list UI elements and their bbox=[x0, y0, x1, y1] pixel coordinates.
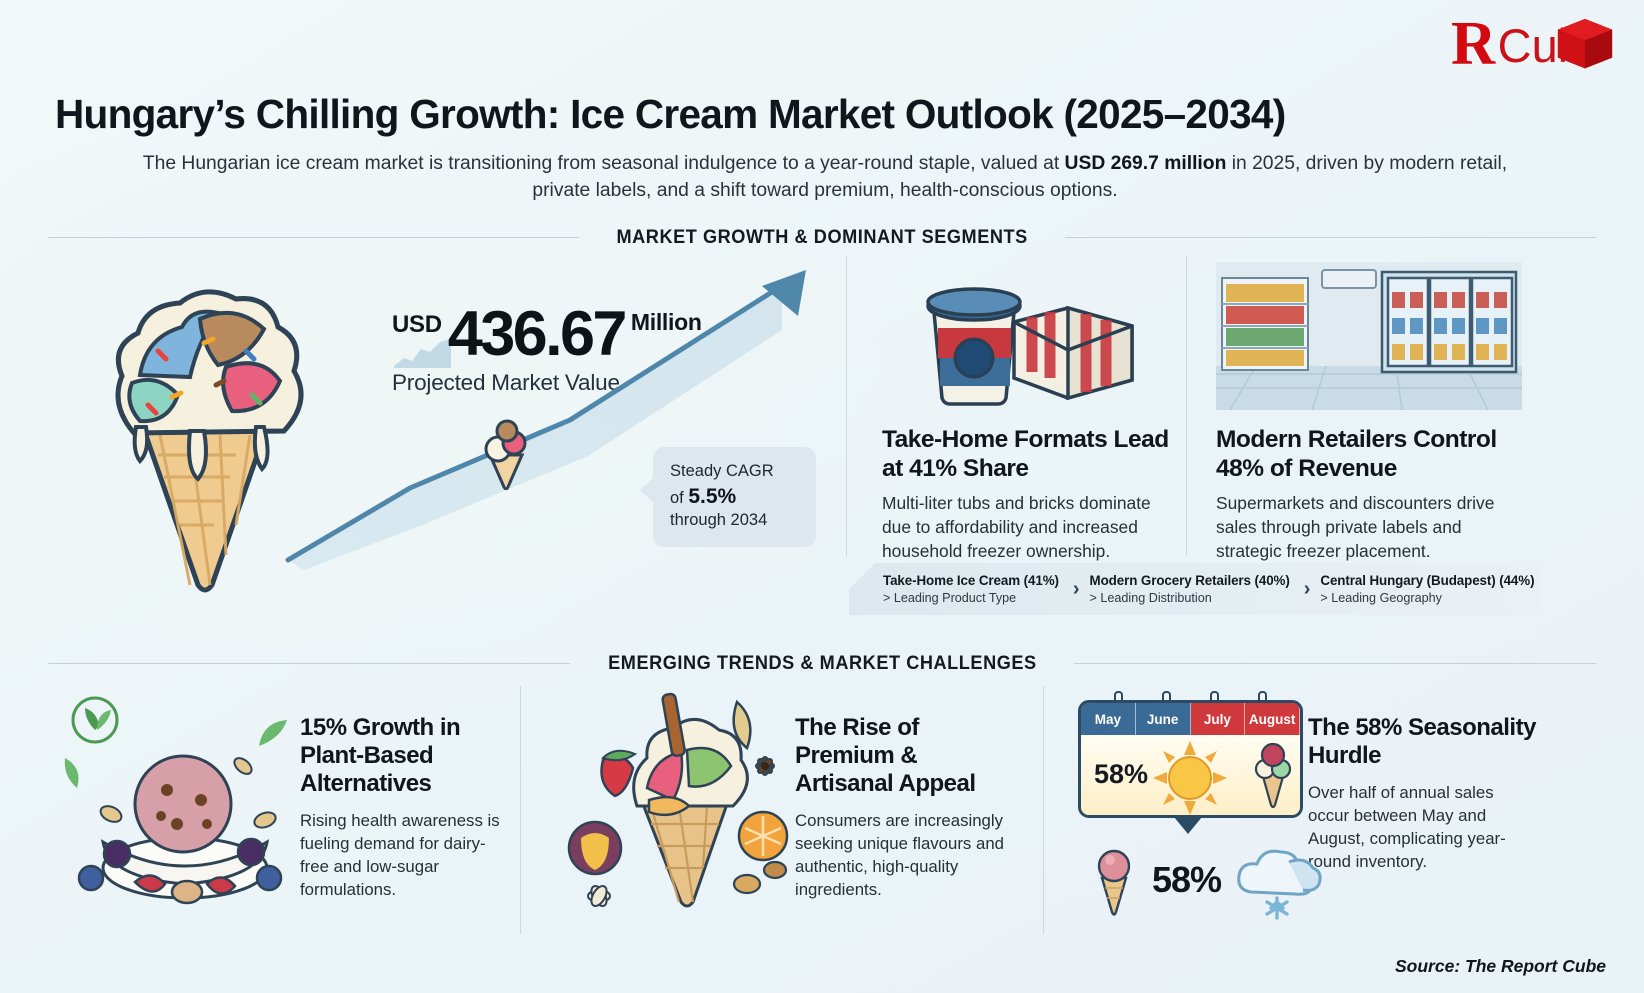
breadcrumb-item-product-type[interactable]: Take-Home Ice Cream (41%) > Leading Prod… bbox=[883, 573, 1071, 605]
divider-rule-left bbox=[48, 663, 570, 664]
brand-logo: Я Cube bbox=[1453, 18, 1610, 71]
cagr-line-2: of 5.5% bbox=[670, 483, 802, 511]
vertical-divider-4 bbox=[1043, 686, 1044, 934]
card-take-home-formats: Take-Home Formats Lead at 41% Share Mult… bbox=[882, 262, 1172, 563]
brand-r-icon: Я bbox=[1453, 18, 1496, 71]
value-line: USD 436.67 Million bbox=[392, 305, 722, 365]
calendar-box: May June July August 58% bbox=[1078, 700, 1303, 818]
arrow-cone-marker-icon bbox=[470, 415, 542, 490]
divider-rule-right bbox=[1074, 663, 1596, 664]
cagr-line-1: Steady CAGR bbox=[670, 461, 802, 483]
leading-segments-breadcrumb: Take-Home Ice Cream (41%) > Leading Prod… bbox=[849, 563, 1539, 615]
breadcrumb-label: Central Hungary (Budapest) (44%) bbox=[1320, 573, 1534, 588]
seasonality-calendar-icon: May June July August 58% bbox=[1078, 700, 1303, 818]
chevron-right-icon: › bbox=[1073, 578, 1080, 601]
calendar-month-august: August bbox=[1245, 703, 1300, 735]
card-body: Supermarkets and discounters drive sales… bbox=[1216, 492, 1522, 563]
seasonality-badge-row: 58% bbox=[1088, 840, 1323, 920]
page-subtitle: The Hungarian ice cream market is transi… bbox=[140, 150, 1510, 205]
ice-cream-cone-illustration bbox=[40, 255, 370, 595]
section-title-top: MARKET GROWTH & DOMINANT SEGMENTS bbox=[616, 226, 1027, 249]
breadcrumb-sublabel: > Leading Geography bbox=[1320, 591, 1534, 605]
value-unit: Million bbox=[631, 309, 702, 336]
snow-cloud-icon bbox=[1233, 840, 1323, 920]
projected-market-value-block: USD 436.67 Million Projected Market Valu… bbox=[392, 305, 722, 396]
plant-based-berry-bowl-icon bbox=[55, 692, 305, 907]
card-body: Rising health awareness is fueling deman… bbox=[300, 809, 505, 901]
breadcrumb-item-distribution[interactable]: Modern Grocery Retailers (40%) > Leading… bbox=[1090, 573, 1302, 605]
calendar-month-june: June bbox=[1136, 703, 1191, 735]
card-plant-based: 15% Growth in Plant-Based Alternatives R… bbox=[45, 688, 515, 918]
supermarket-freezer-aisle-icon bbox=[1216, 262, 1522, 410]
calendar-cone-icon bbox=[1250, 737, 1296, 809]
card-heading: 15% Growth in Plant-Based Alternatives bbox=[300, 714, 505, 798]
sun-icon bbox=[1151, 739, 1229, 817]
divider-rule-left bbox=[48, 237, 579, 238]
subtitle-highlight: USD 269.7 million bbox=[1065, 153, 1227, 174]
value-amount: 436.67 bbox=[448, 305, 625, 365]
cagr-prefix: of bbox=[670, 489, 688, 507]
section-divider-emerging-trends: EMERGING TRENDS & MARKET CHALLENGES bbox=[48, 652, 1596, 675]
calendar-percent-label: 58% bbox=[1094, 759, 1148, 790]
vertical-divider-3 bbox=[520, 686, 521, 934]
breadcrumb-item-geography[interactable]: Central Hungary (Budapest) (44%) > Leadi… bbox=[1320, 573, 1546, 605]
card-body: Over half of annual sales occur between … bbox=[1308, 781, 1538, 873]
calendar-body: 58% bbox=[1081, 735, 1300, 818]
card-premium-artisanal: The Rise of Premium & Artisanal Appeal C… bbox=[545, 688, 1030, 918]
infographic-page: Я Cube Hungary’s Chilling Growth: Ice Cr… bbox=[0, 0, 1644, 993]
vertical-divider-1 bbox=[846, 256, 847, 556]
value-caption: Projected Market Value bbox=[392, 370, 722, 396]
card-body: Multi-liter tubs and bricks dominate due… bbox=[882, 492, 1172, 563]
subtitle-part-1: The Hungarian ice cream market is transi… bbox=[143, 153, 1065, 174]
section-title-bottom: EMERGING TRENDS & MARKET CHALLENGES bbox=[608, 652, 1037, 675]
card-heading: Take-Home Formats Lead at 41% Share bbox=[882, 426, 1172, 483]
source-label: Source: The Report Cube bbox=[1395, 956, 1606, 977]
calendar-month-row: May June July August bbox=[1081, 703, 1300, 735]
breadcrumb-label: Modern Grocery Retailers (40%) bbox=[1090, 573, 1290, 588]
card-body: Consumers are increasingly seeking uniqu… bbox=[795, 809, 1010, 901]
artisanal-gelato-cone-icon bbox=[551, 688, 806, 910]
calendar-month-july: July bbox=[1191, 703, 1246, 735]
breadcrumb-sublabel: > Leading Product Type bbox=[883, 591, 1059, 605]
breadcrumb-sublabel: > Leading Distribution bbox=[1090, 591, 1290, 605]
card-heading: The 58% Seasonality Hurdle bbox=[1308, 714, 1538, 770]
divider-rule-right bbox=[1065, 237, 1596, 238]
cagr-callout: Steady CAGR of 5.5% through 2034 bbox=[653, 447, 816, 547]
section-divider-market-growth: MARKET GROWTH & DOMINANT SEGMENTS bbox=[48, 226, 1596, 249]
calendar-month-may: May bbox=[1081, 703, 1136, 735]
breadcrumb-label: Take-Home Ice Cream (41%) bbox=[883, 573, 1059, 588]
cagr-rate: 5.5% bbox=[688, 485, 736, 508]
card-heading: Modern Retailers Control 48% of Revenue bbox=[1216, 426, 1522, 483]
calendar-pointer bbox=[1174, 817, 1202, 834]
value-currency: USD bbox=[392, 311, 442, 339]
ice-cream-tub-and-brick-icon bbox=[882, 262, 1172, 410]
seasonality-percent-badge: 58% bbox=[1152, 859, 1221, 901]
card-heading: The Rise of Premium & Artisanal Appeal bbox=[795, 714, 1010, 798]
small-cone-icon bbox=[1088, 842, 1140, 918]
red-cube-icon bbox=[1554, 16, 1616, 78]
cagr-line-3: through 2034 bbox=[670, 510, 802, 532]
breadcrumb-items: Take-Home Ice Cream (41%) > Leading Prod… bbox=[849, 563, 1539, 615]
page-title: Hungary’s Chilling Growth: Ice Cream Mar… bbox=[55, 92, 1555, 137]
card-modern-retailers: Modern Retailers Control 48% of Revenue … bbox=[1216, 262, 1522, 563]
vertical-divider-2 bbox=[1186, 256, 1187, 556]
chevron-right-icon: › bbox=[1304, 578, 1311, 601]
